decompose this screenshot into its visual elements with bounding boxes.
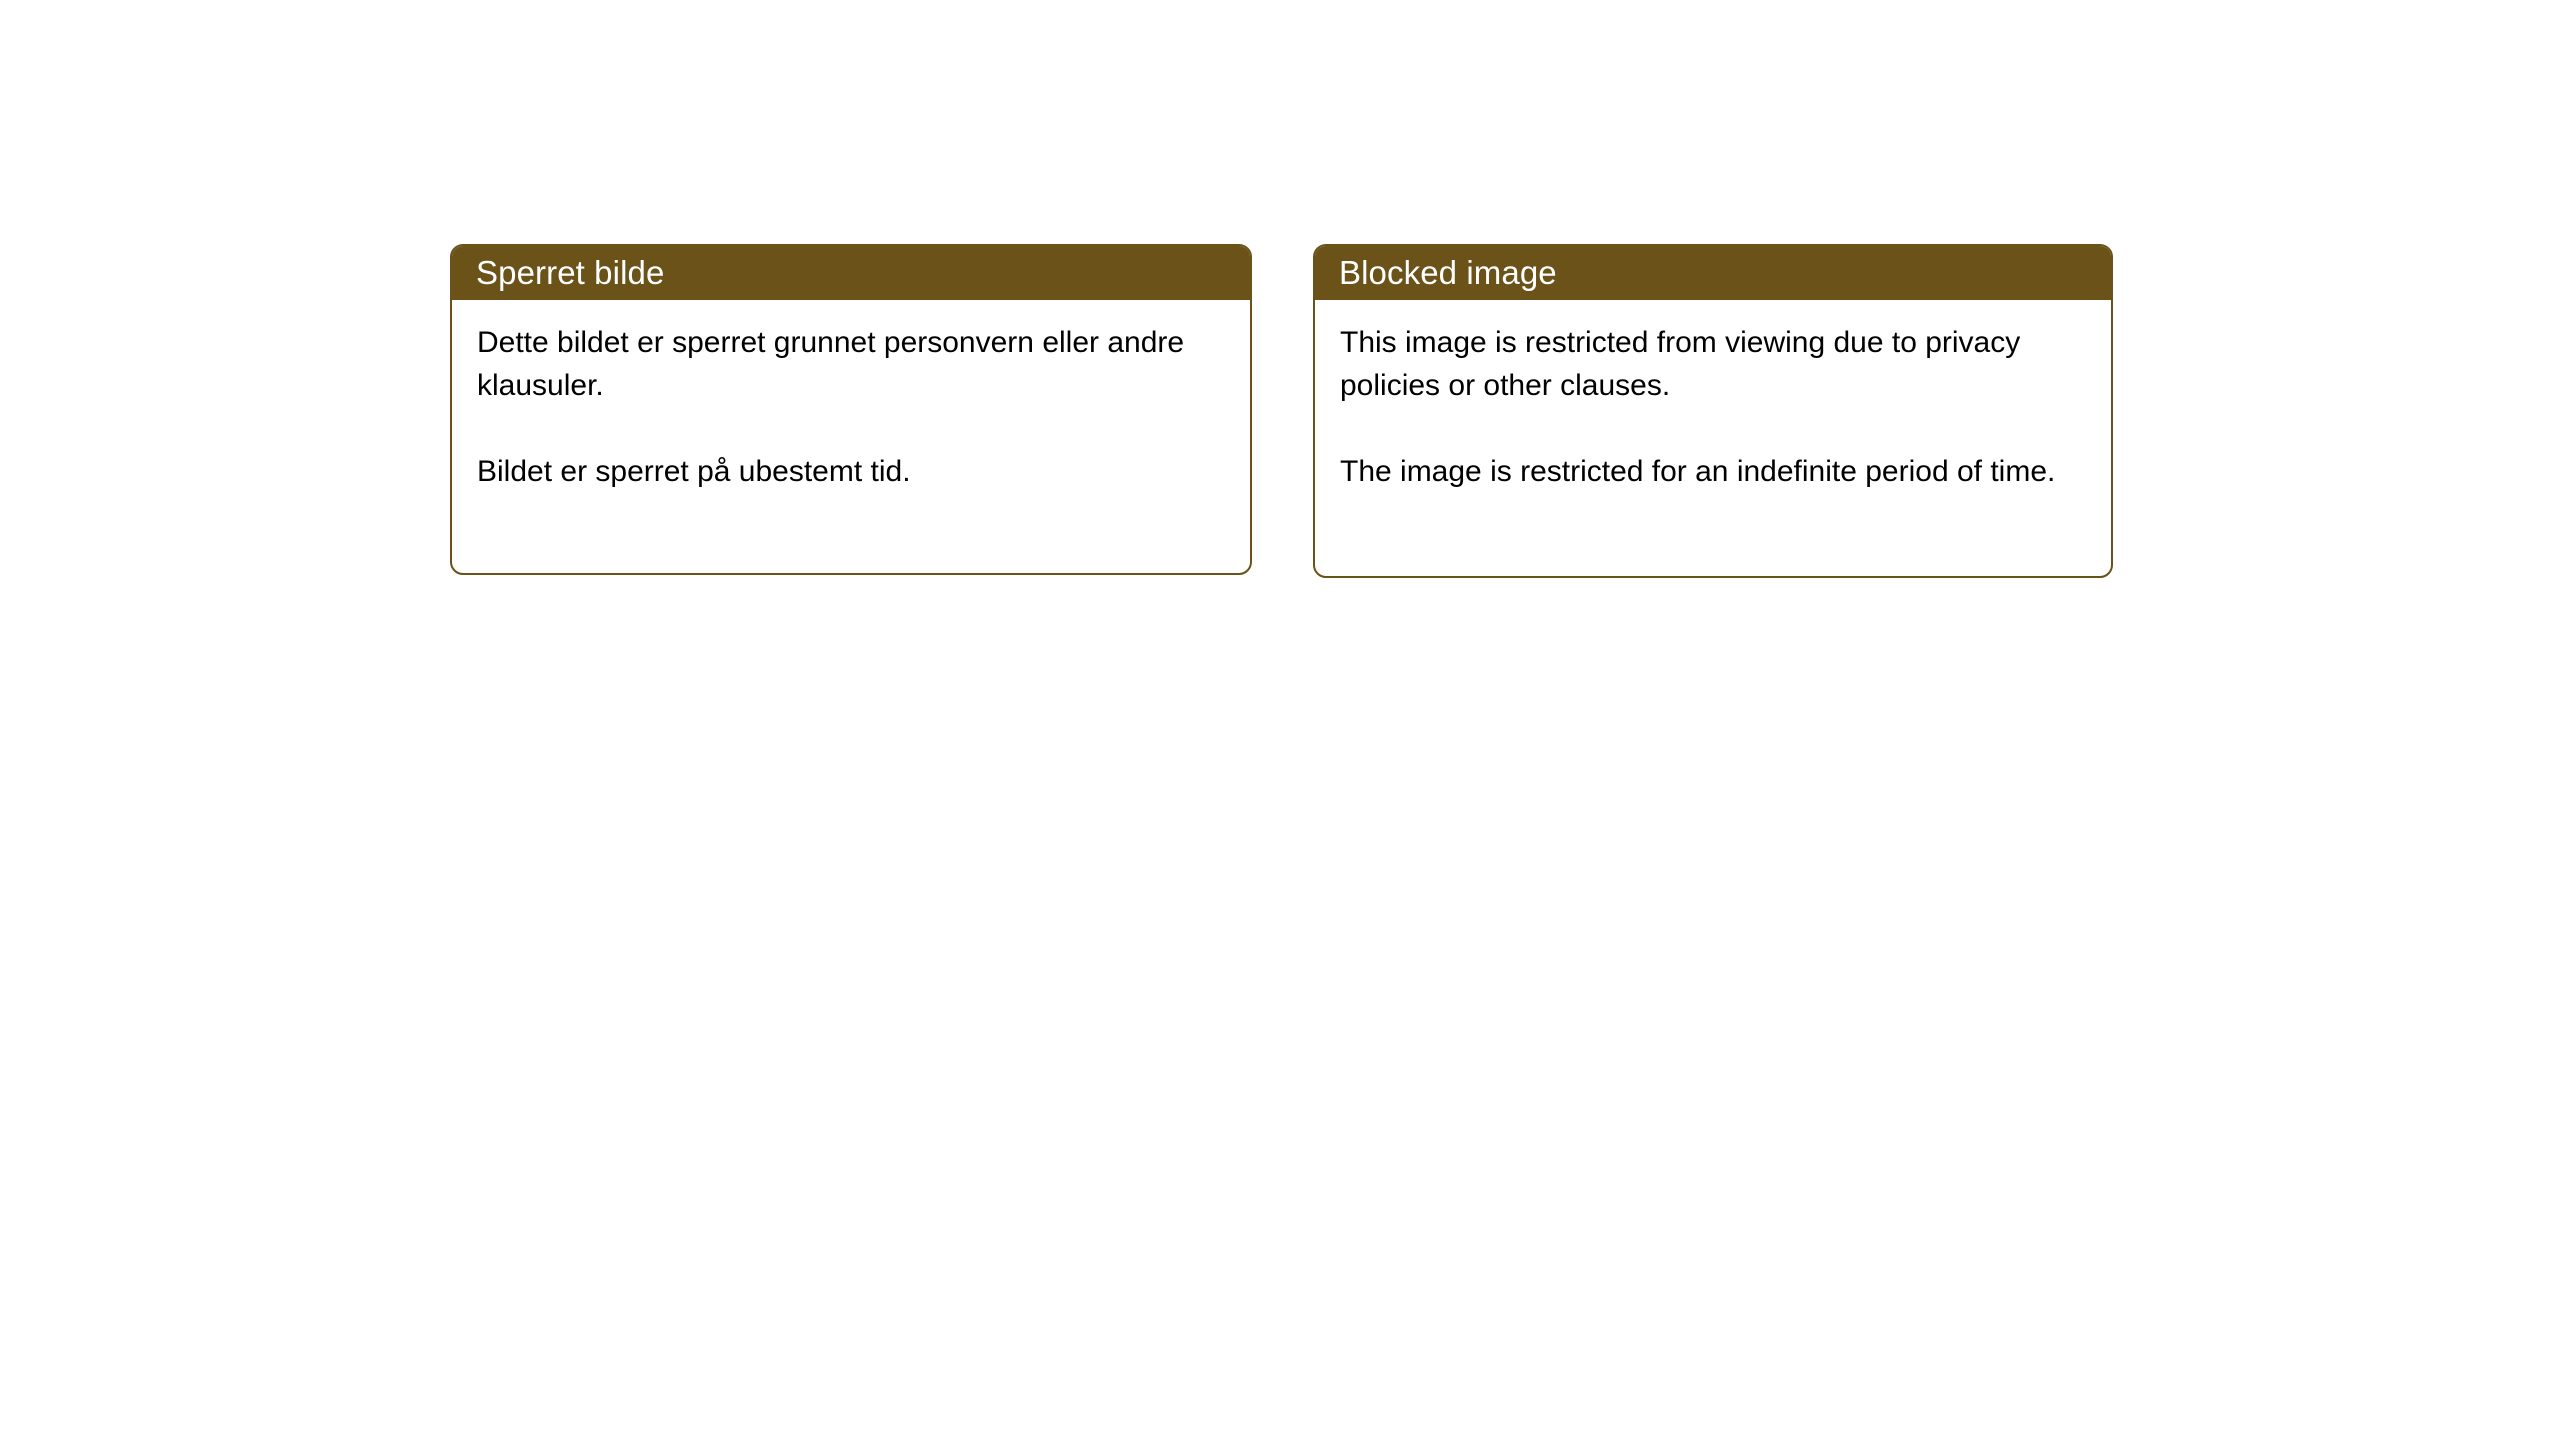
blocked-image-notice-english: Blocked image This image is restricted f… [1313, 244, 2113, 578]
notice-title-english: Blocked image [1339, 254, 1557, 292]
notice-header-norwegian: Sperret bilde [452, 246, 1250, 300]
notice-paragraph-english-2: The image is restricted for an indefinit… [1340, 450, 2091, 493]
notice-paragraph-norwegian-1: Dette bildet er sperret grunnet personve… [477, 321, 1230, 407]
notice-header-english: Blocked image [1315, 246, 2111, 300]
blocked-image-notice-norwegian: Sperret bilde Dette bildet er sperret gr… [450, 244, 1252, 575]
page-canvas: Sperret bilde Dette bildet er sperret gr… [0, 0, 2560, 1440]
notice-body-norwegian: Dette bildet er sperret grunnet personve… [452, 300, 1250, 493]
notice-paragraph-english-1: This image is restricted from viewing du… [1340, 321, 2091, 407]
notice-title-norwegian: Sperret bilde [476, 254, 664, 292]
notice-paragraph-norwegian-2: Bildet er sperret på ubestemt tid. [477, 450, 1230, 493]
notice-body-english: This image is restricted from viewing du… [1315, 300, 2111, 493]
